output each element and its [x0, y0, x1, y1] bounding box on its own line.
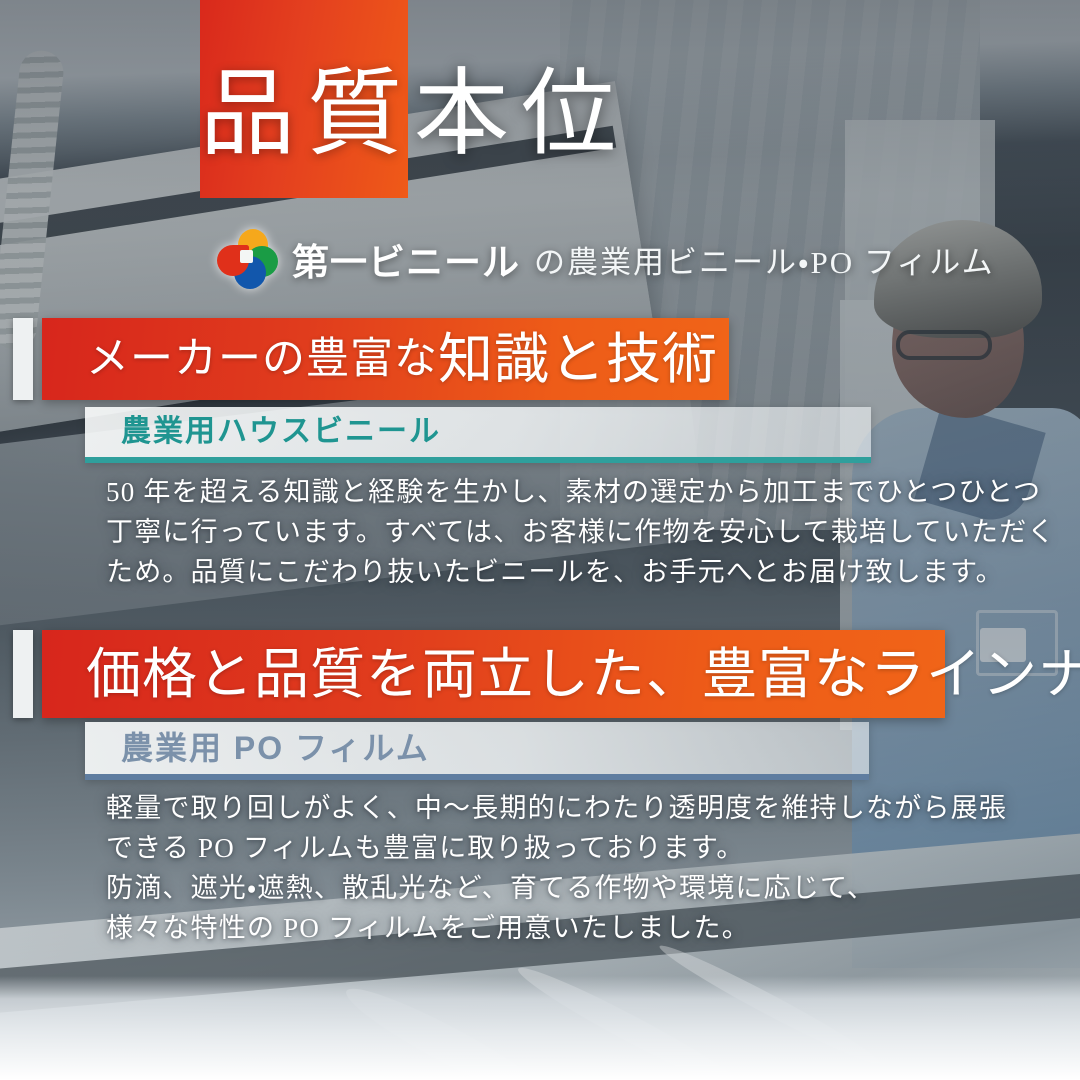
brand-name: 第一ビニール	[292, 232, 520, 286]
hero-title-highlight: 品質	[200, 61, 414, 167]
body-text-lineup: 軽量で取り回しがよく、中～長期的にわたり透明度を維持しながら展張 できる PO …	[106, 788, 906, 948]
brand-tagline: の農業用ビニール・PO フィルム	[534, 237, 995, 282]
subheading-bar-house-vinyl: 農業用ハウスビニール	[85, 407, 871, 463]
ribbon-emphasis-text: 知識と技術	[438, 332, 718, 387]
ribbon-tick-mark	[13, 318, 33, 400]
body-line: 軽量で取り回しがよく、中～長期的にわたり透明度を維持しながら展張	[106, 788, 906, 828]
promo-banner: 品質本位 第一ビニール の農業用ビニール・PO フィルム メーカーの豊富な 知識…	[0, 0, 1080, 1080]
body-line: 防滴、遮光・遮熱、散乱光など、育てる作物や環境に応じて、	[106, 868, 906, 908]
body-line: ため。品質にこだわり抜いたビニールを、お手元へとお届け致します。	[106, 552, 906, 592]
logo-center	[240, 250, 253, 263]
ribbon-body: 価格と品質を両立した、 豊富なラインナップ	[42, 630, 945, 718]
banner-content: 品質本位 第一ビニール の農業用ビニール・PO フィルム メーカーの豊富な 知識…	[0, 0, 1080, 1080]
ribbon-body: メーカーの豊富な 知識と技術	[42, 318, 729, 400]
ribbon-prefix-text: 価格と品質を両立した、	[86, 647, 702, 702]
hero-title: 品質本位	[200, 0, 628, 200]
body-line: できる PO フィルムも豊富に取り扱っております。	[106, 828, 906, 868]
body-line: 様々な特性の PO フィルムをご用意いたしました。	[106, 908, 906, 948]
body-line: 50 年を超える知識と経験を生かし、素材の選定から加工までひとつひとつ	[106, 472, 906, 512]
body-line: 丁寧に行っています。すべては、お客様に作物を安心して栽培していただく	[106, 512, 906, 552]
ribbon-prefix-text: メーカーの豊富な	[86, 338, 438, 381]
section-ribbon-lineup: 価格と品質を両立した、 豊富なラインナップ	[13, 630, 945, 718]
ribbon-emphasis-text: 豊富なラインナップ	[702, 647, 1080, 702]
hero-title-plain: 本位	[414, 61, 628, 167]
section-ribbon-knowledge: メーカーの豊富な 知識と技術	[13, 318, 729, 400]
hero-title-text: 品質本位	[200, 67, 628, 200]
subheading-text: 農業用ハウスビニール	[121, 417, 441, 447]
brand-line: 第一ビニール の農業用ビニール・PO フィルム	[216, 228, 995, 290]
flower-pinwheel-logo-icon	[216, 228, 278, 290]
ribbon-tick-mark	[13, 630, 33, 718]
subheading-bar-po-film: 農業用 PO フィルム	[85, 722, 869, 780]
subheading-text: 農業用 PO フィルム	[121, 732, 430, 764]
body-text-knowledge: 50 年を超える知識と経験を生かし、素材の選定から加工までひとつひとつ 丁寧に行…	[106, 472, 906, 592]
